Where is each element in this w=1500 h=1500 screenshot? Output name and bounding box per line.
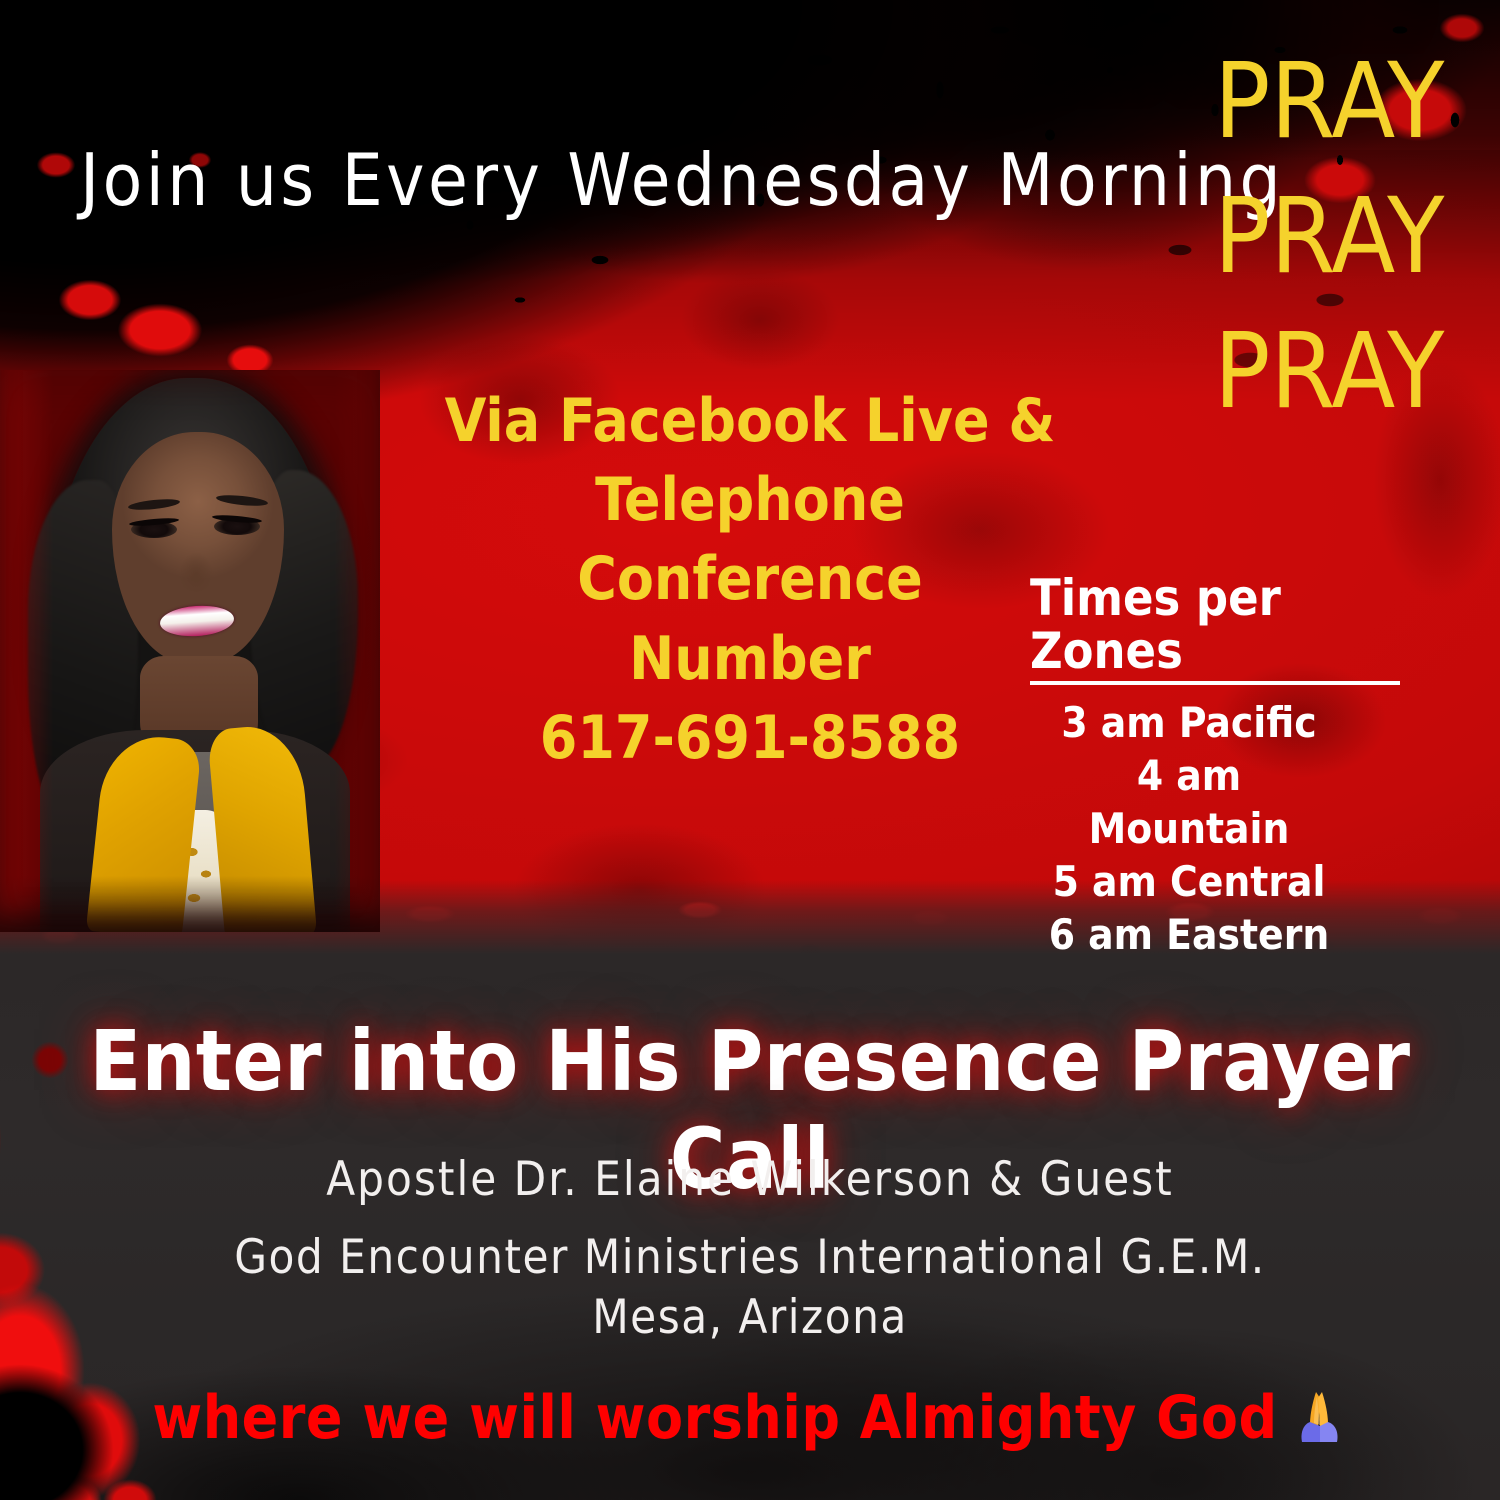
- zones-title: Times per Zones: [1030, 572, 1400, 685]
- praying-hands-icon: [1290, 1388, 1348, 1450]
- broadcast-info-block: Via Facebook Live & Telephone Conference…: [420, 382, 1080, 778]
- speaker-portrait-photo: [0, 370, 380, 932]
- broadcast-line-1: Via Facebook Live &: [420, 382, 1080, 461]
- zones-list: 3 am Pacific 4 am Mountain 5 am Central …: [1030, 697, 1348, 962]
- headline: Join us Every Wednesday Morning: [80, 143, 1260, 219]
- organization-name: God Encounter Ministries International G…: [234, 1230, 1265, 1285]
- zone-item-eastern: 6 am Eastern: [1030, 909, 1348, 962]
- times-per-zones-block: Times per Zones 3 am Pacific 4 am Mounta…: [1030, 572, 1400, 962]
- host-name: Apostle Dr. Elaine Wilkerson & Guest: [0, 1152, 1500, 1207]
- pray-chant-line-2: PRAY: [1214, 169, 1464, 304]
- portrait-nose: [176, 548, 216, 592]
- broadcast-line-2: Telephone Conference: [420, 461, 1080, 619]
- footer-message-row: where we will worship Almighty God: [0, 1383, 1500, 1453]
- prayer-call-flyer: Join us Every Wednesday Morning PRAY PRA…: [0, 0, 1500, 1500]
- broadcast-line-3: Number: [420, 620, 1080, 699]
- footer-message: where we will worship Almighty God: [152, 1383, 1277, 1453]
- zone-item-pacific: 3 am Pacific: [1030, 697, 1348, 750]
- conference-phone-number[interactable]: 617-691-8588: [420, 699, 1080, 778]
- zone-item-central: 5 am Central: [1030, 856, 1348, 909]
- organization-city: Mesa, Arizona: [0, 1288, 1500, 1348]
- organization-block: God Encounter Ministries International G…: [0, 1228, 1500, 1348]
- pray-chant-line-3: PRAY: [1214, 304, 1464, 439]
- pray-chant-stack: PRAY PRAY PRAY: [1214, 34, 1464, 440]
- pray-chant-line-1: PRAY: [1214, 34, 1464, 169]
- zone-item-mountain: 4 am Mountain: [1030, 750, 1348, 856]
